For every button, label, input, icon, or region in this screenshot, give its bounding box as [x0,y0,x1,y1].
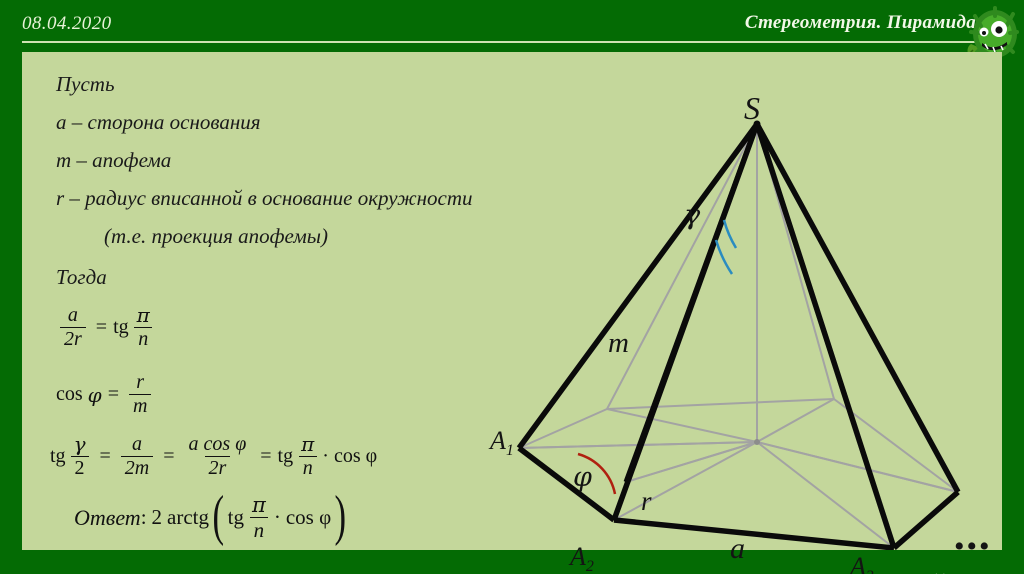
header-date: 08.04.2020 [22,13,112,35]
label-vertex-a2: A2 [570,542,594,574]
text-then: Тогда [56,265,107,290]
paren-open: ( [213,499,225,534]
paren-close: ) [335,499,347,534]
text-side: a – сторона основания [56,110,261,135]
slide: 08.04.2020 Стереометрия. Пирамида Пусть … [0,0,1024,574]
label-ellipsis: ••• [954,530,992,564]
answer-word: Ответ [74,505,141,531]
label-gamma: γ [684,200,700,231]
header-divider [22,41,1000,43]
header-title: Стереометрия. Пирамида [745,12,976,34]
formula-a-over-2r: a 2r = tg π n [56,305,158,350]
text-let: Пусть [56,72,115,97]
slide-header: 08.04.2020 Стереометрия. Пирамида [0,0,1024,50]
formula-cos-phi: cos φ = r m [56,372,155,417]
center-point [754,439,760,445]
label-side-a: a [730,532,745,566]
label-apothem: m [608,327,629,360]
formula-tg-gamma-half: tg γ 2 = a 2m = a cos φ 2r = tg π n · co… [50,434,377,479]
label-phi: φ [573,462,592,493]
fraction-pi-n: π n [133,305,154,350]
fraction-pi-n-3: π n [248,494,270,541]
formula-answer: Ответ : 2 arctg ( tg π n · cos φ ) [74,494,350,541]
apothem-line [626,124,757,482]
content-panel: Пусть a – сторона основания m – апофема … [22,52,1002,550]
label-vertex-a3: A3 [850,552,874,574]
text-projection: (т.е. проекция апофемы) [104,224,328,249]
text-radius: r – радиус вписанной в основание окружно… [56,186,473,211]
fraction-pi-n-2: π n [297,434,318,479]
label-apex-S: S [744,90,760,127]
fraction-acosphi-2r: a cos φ 2r [185,434,251,479]
fraction-r-m: r m [129,372,151,417]
label-vertex-a1: A1 [490,426,514,460]
fraction-a-2r: a 2r [60,305,86,350]
gamma-angle-arc [716,220,736,274]
fraction-a-2m: a 2m [121,434,153,479]
label-radius: r [641,486,652,517]
text-apothem: m – апофема [56,148,171,173]
fraction-gamma-2: γ 2 [70,434,90,479]
